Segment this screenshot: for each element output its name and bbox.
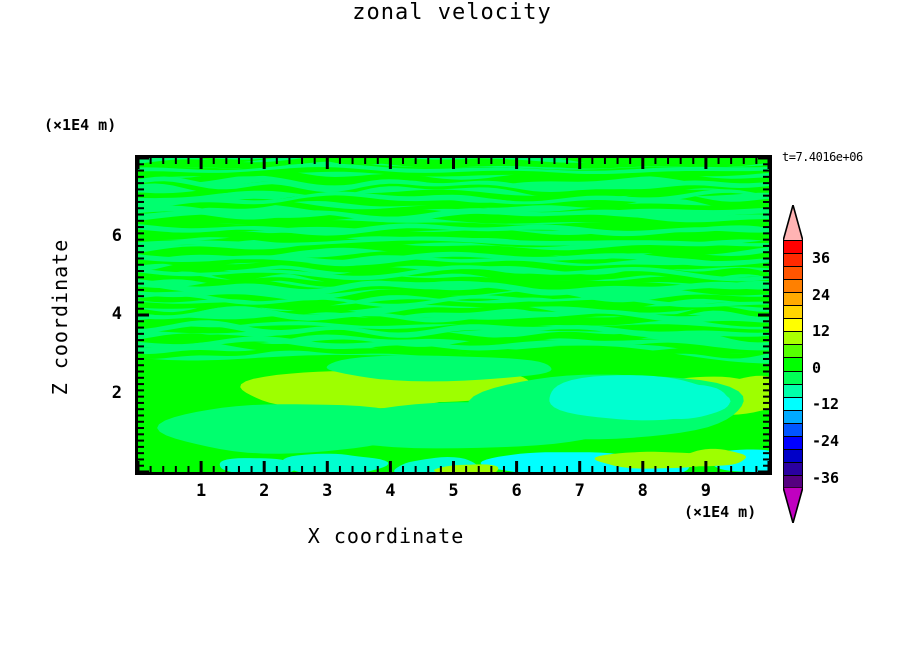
y-tick-label: 6	[98, 226, 122, 246]
contour-field	[138, 158, 769, 472]
y-tick-label: 2	[98, 383, 122, 403]
upper-wave-bands	[138, 158, 769, 359]
chart-title: zonal velocity	[0, 0, 904, 25]
colorbar-under-arrow	[783, 487, 803, 523]
x-tick-label: 1	[186, 481, 216, 501]
x-tick-label: 3	[312, 481, 342, 501]
x-tick-label: 5	[439, 481, 469, 501]
x-tick-label: 8	[628, 481, 658, 501]
y-axis-unit-label: (×1E4 m)	[44, 116, 116, 134]
contour-plot-area	[135, 155, 772, 475]
x-tick-label: 4	[375, 481, 405, 501]
colorbar-tick-label: 12	[812, 322, 830, 340]
colorbar[interactable]	[783, 240, 803, 488]
colorbar-over-arrow	[783, 205, 803, 241]
x-tick-label: 7	[565, 481, 595, 501]
lower-jet-structures	[138, 346, 769, 472]
colorbar-tick-label: -36	[812, 469, 839, 487]
colorbar-tick-label: 24	[812, 286, 830, 304]
x-axis-unit-label: (×1E4 m)	[684, 503, 756, 521]
y-axis-title: Z coordinate	[48, 217, 72, 417]
x-tick-label: 6	[502, 481, 532, 501]
x-tick-label: 2	[249, 481, 279, 501]
y-tick-label: 4	[98, 304, 122, 324]
timestamp-annotation: t=7.4016e+06	[782, 150, 863, 164]
colorbar-tick-label: -12	[812, 395, 839, 413]
colorbar-tick-label: 36	[812, 249, 830, 267]
x-tick-label: 9	[691, 481, 721, 501]
colorbar-tick-label: 0	[812, 359, 821, 377]
x-axis-title: X coordinate	[0, 524, 772, 548]
colorbar-tick-label: -24	[812, 432, 839, 450]
